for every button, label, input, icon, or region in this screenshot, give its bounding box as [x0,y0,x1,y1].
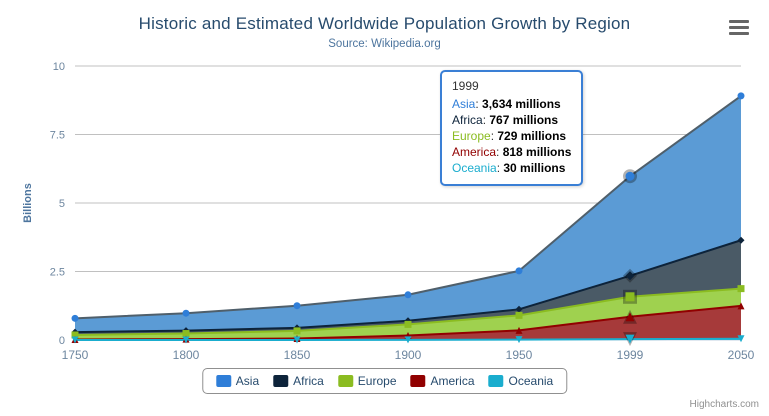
legend-label-africa: Africa [293,374,324,388]
datapoint-asia-1750[interactable] [72,315,79,322]
chart-legend: AsiaAfricaEuropeAmericaOceania [202,368,567,394]
x-tick-label-2050: 2050 [728,348,755,362]
datapoint-europe-1900[interactable] [405,321,412,328]
tooltip-row-oceania: Oceania: 30 millions [452,160,571,176]
datapoint-asia-1850[interactable] [294,302,301,309]
legend-swatch-oceania [489,375,504,387]
tooltip-row-america: America: 818 millions [452,144,571,160]
datapoint-europe-1999[interactable] [626,292,635,301]
datapoint-asia-1800[interactable] [183,310,190,317]
tooltip-series-name: Europe [452,129,491,143]
legend-item-oceania[interactable]: Oceania [489,374,554,388]
tooltip-series-value: 767 millions [489,113,558,127]
tooltip-series-value: 818 millions [503,145,572,159]
legend-swatch-asia [216,375,231,387]
tooltip-rows: Asia: 3,634 millionsAfrica: 767 millions… [452,96,571,176]
legend-swatch-africa [273,375,288,387]
y-tick-label-0: 0 [59,335,65,347]
datapoint-asia-1900[interactable] [405,291,412,298]
x-tick-label-1800: 1800 [173,348,200,362]
x-tick-label-1999: 1999 [617,348,644,362]
y-tick-label-7.5: 7.5 [50,130,65,142]
datapoint-europe-2050[interactable] [738,285,745,292]
tooltip-separator: : [496,145,503,159]
x-tick-label-1850: 1850 [284,348,311,362]
y-tick-label-5: 5 [59,198,65,210]
tooltip-series-name: America [452,145,496,159]
y-tick-label-2.5: 2.5 [50,267,65,279]
tooltip-series-name: Africa [452,113,483,127]
legend-swatch-europe [338,375,353,387]
legend-label-america: America [431,374,475,388]
y-axis-title: Billions [22,183,34,223]
tooltip-series-name: Asia [452,97,475,111]
tooltip-series-value: 3,634 millions [482,97,561,111]
legend-label-asia: Asia [236,374,259,388]
tooltip-series-value: 729 millions [497,129,566,143]
legend-item-europe[interactable]: Europe [338,374,397,388]
legend-swatch-america [411,375,426,387]
tooltip-header: 1999 [452,79,571,93]
datapoint-asia-2050[interactable] [738,92,745,99]
legend-item-america[interactable]: America [411,374,475,388]
legend-item-asia[interactable]: Asia [216,374,259,388]
x-tick-label-1950: 1950 [506,348,533,362]
datapoint-europe-1950[interactable] [516,312,523,319]
tooltip-row-europe: Europe: 729 millions [452,128,571,144]
plot-area: 02.557.5101750180018501900195019992050Bi… [0,0,769,416]
tooltip-series-name: Oceania [452,161,497,175]
legend-label-oceania: Oceania [509,374,554,388]
tooltip-row-asia: Asia: 3,634 millions [452,96,571,112]
tooltip-row-africa: Africa: 767 millions [452,112,571,128]
y-tick-label-10: 10 [53,61,65,73]
tooltip-series-value: 30 millions [503,161,565,175]
credits-label[interactable]: Highcharts.com [690,399,759,410]
tooltip-separator: : [475,97,482,111]
legend-item-africa[interactable]: Africa [273,374,324,388]
datapoint-asia-1999[interactable] [626,172,635,181]
tooltip: 1999 Asia: 3,634 millionsAfrica: 767 mil… [440,70,583,186]
datapoint-europe-1850[interactable] [294,327,301,334]
x-tick-label-1900: 1900 [395,348,422,362]
highcharts-container: Historic and Estimated Worldwide Populat… [0,0,769,416]
x-tick-label-1750: 1750 [62,348,89,362]
datapoint-asia-1950[interactable] [516,267,523,274]
legend-label-europe: Europe [358,374,397,388]
